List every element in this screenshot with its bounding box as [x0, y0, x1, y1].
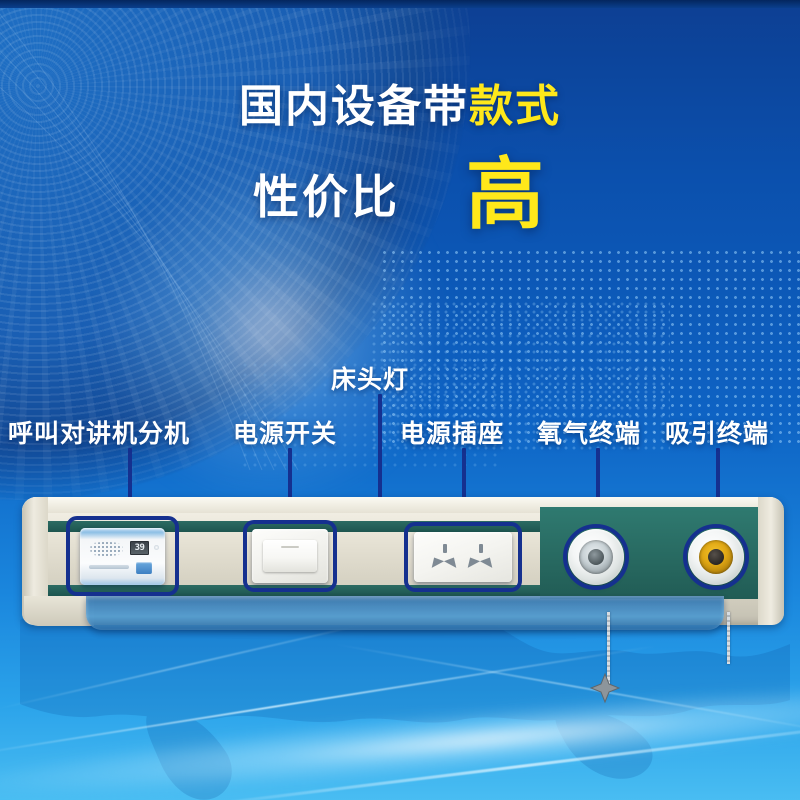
intercom-vent-slot — [89, 565, 129, 569]
callout-label-oxygen-outlet: 氧气终端 — [537, 414, 641, 450]
headline-block: 国内设备带款式 性价比 高 — [0, 82, 800, 231]
panel-endcap-right — [758, 497, 784, 625]
callout-label-intercom: 呼叫对讲机分机 — [8, 414, 190, 450]
pull-cord-suction[interactable] — [727, 612, 730, 664]
headline-line-1: 国内设备带款式 — [0, 82, 800, 133]
callout-label-power-switch: 电源开关 — [233, 414, 337, 450]
headline-accent: 款式 — [469, 82, 561, 131]
status-led-icon — [154, 545, 159, 550]
intercom-display: 39 — [130, 541, 149, 555]
power-switch-plate[interactable] — [252, 529, 328, 583]
headline-value-text: 性价比 — [253, 161, 400, 227]
socket-pin-left — [464, 554, 480, 568]
socket-pin-right — [444, 554, 460, 568]
suction-terminal[interactable] — [688, 529, 744, 585]
speaker-grille-icon — [89, 541, 123, 557]
lightbar-end-left — [24, 596, 94, 626]
socket-pin-vertical — [479, 544, 483, 553]
socket-outlet-1[interactable] — [428, 544, 462, 570]
socket-pin-left — [428, 554, 444, 568]
callout-label-power-socket: 电源插座 — [400, 414, 504, 450]
headline-big-char: 高 — [466, 157, 547, 231]
socket-outlet-2[interactable] — [464, 544, 498, 570]
oxygen-terminal-port — [588, 549, 604, 565]
headline-part-1: 国内设备带 — [239, 82, 469, 131]
headline-line-2: 性价比 高 — [0, 157, 800, 231]
banner-canvas: 国内设备带款式 性价比 高 呼叫对讲机分机 电源开关 床头灯 电源插座 氧气终端… — [0, 0, 800, 800]
socket-pin-vertical — [443, 544, 447, 553]
top-navy-bar — [0, 0, 800, 8]
nurse-call-intercom[interactable]: 39 — [80, 528, 165, 585]
pull-cord-pendant-icon[interactable] — [585, 672, 625, 704]
oxygen-terminal-ring — [579, 540, 613, 574]
intercom-call-button[interactable] — [136, 562, 152, 574]
oxygen-terminal[interactable] — [568, 529, 624, 585]
suction-terminal-ring — [699, 540, 733, 574]
callout-label-bed-lamp: 床头灯 — [331, 360, 409, 396]
bed-lamp-diffuser[interactable] — [86, 596, 724, 630]
suction-terminal-port — [708, 549, 724, 565]
rocker-switch[interactable] — [263, 540, 317, 572]
power-socket-plate[interactable] — [414, 532, 512, 582]
socket-pin-right — [480, 554, 496, 568]
callout-label-suction-outlet: 吸引终端 — [665, 414, 769, 450]
